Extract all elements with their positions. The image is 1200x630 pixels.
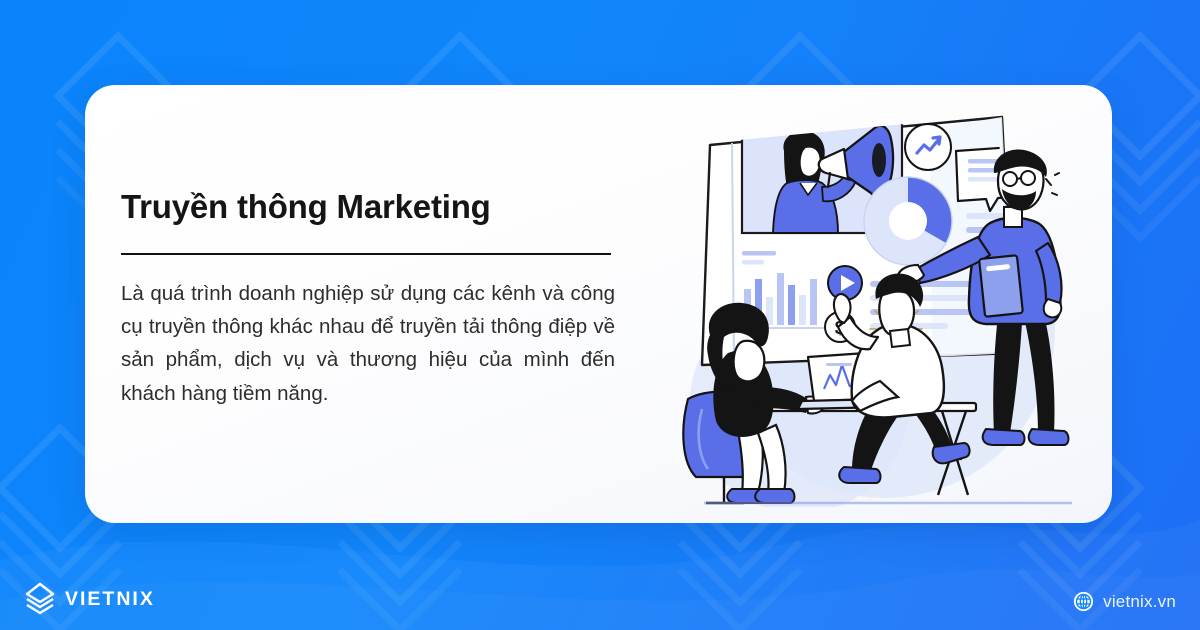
text-column: Truyền thông Marketing Là quá trình doan…	[121, 85, 651, 523]
title-divider	[121, 253, 611, 255]
content-card: Truyền thông Marketing Là quá trình doan…	[85, 85, 1112, 523]
site-url: vietnix.vn	[1103, 592, 1176, 612]
donut-chart	[864, 177, 952, 265]
brand-name: VIETNIX	[65, 588, 155, 611]
globe-icon	[1073, 591, 1094, 612]
marketing-communication-illustration: $	[680, 103, 1090, 507]
site-url-footer[interactable]: vietnix.vn	[1073, 591, 1176, 612]
trending-up-icon	[905, 124, 951, 170]
page-title: Truyền thông Marketing	[121, 188, 651, 227]
page-description: Là quá trình doanh nghiệp sử dụng các kê…	[121, 277, 615, 410]
poster-canvas: Truyền thông Marketing Là quá trình doan…	[0, 0, 1200, 630]
brand-footer[interactable]: VIETNIX	[24, 582, 155, 616]
stacked-layers-icon	[24, 582, 56, 616]
